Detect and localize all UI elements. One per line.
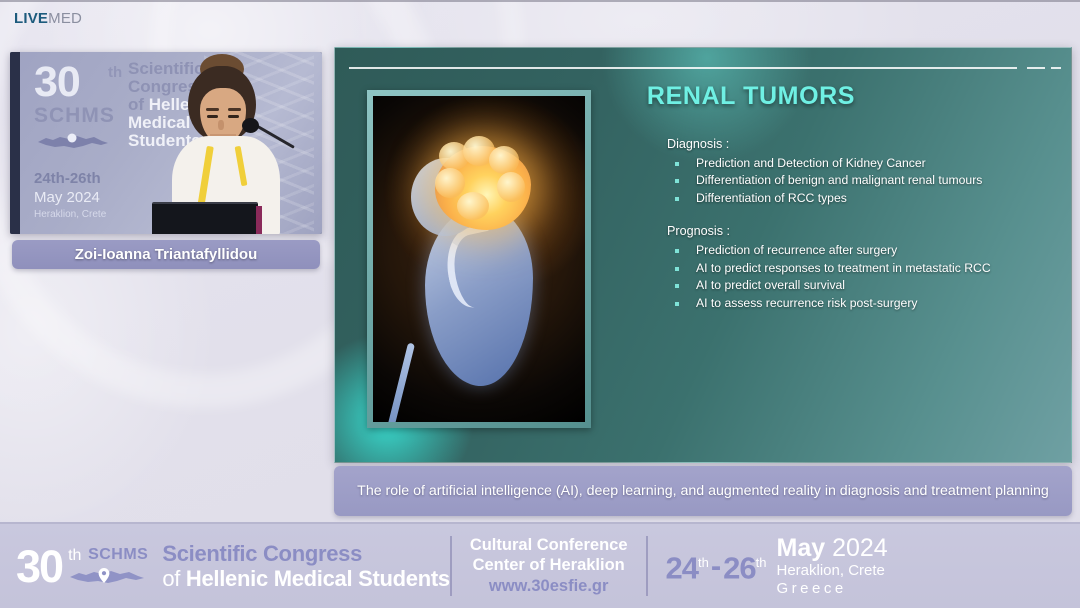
section-heading: Diagnosis : [667,136,1065,154]
banner-schms-label: SCHMS [88,546,148,564]
venue-line-2: Center of Heraklion [473,555,625,575]
list-item-label: Differentiation of benign and malignant … [696,172,982,190]
list-item: Prediction of recurrence after surgery [667,242,1065,260]
month-year: May 2024 [777,535,888,562]
speaker-eye-right [228,115,239,118]
speaker-name-label: Zoi-Ioanna Triantafyllidou [75,246,258,263]
bullet-icon [675,267,679,271]
speaker-name-badge: Zoi-Ioanna Triantafyllidou [12,240,320,269]
list-item: Differentiation of benign and malignant … [667,172,1065,190]
backdrop-edition-number: 30 [34,58,80,107]
list-item-label: Differentiation of RCC types [696,190,847,208]
presentation-slide[interactable]: RENAL TUMORS Diagnosis : Prediction and … [334,47,1072,463]
speaker-eyebrow-right [228,108,241,111]
venue-line-1: Cultural Conference [470,535,628,555]
banner-venue-block: Cultural Conference Center of Heraklion … [452,524,646,608]
list-item: Differentiation of RCC types [667,190,1065,208]
section-heading: Prognosis : [667,223,1065,241]
speaker-eye-left [207,115,218,118]
banner-date-details: May 2024 Heraklion, Crete Greece [777,535,888,598]
list-item: AI to assess recurrence risk post-surger… [667,295,1065,313]
backdrop-dates: 24th-26th [34,170,101,187]
date-start: 24th [666,548,709,583]
slide-top-dash-1 [1027,67,1045,69]
date-separator: - [711,548,721,584]
section-spacer [667,207,1065,223]
slide-section-diagnosis: Diagnosis : Prediction and Detection of … [667,136,1065,207]
slide-top-rule [349,67,1017,69]
bullet-icon [675,249,679,253]
bullet-icon [675,302,679,306]
speaker-nose [218,120,224,130]
speaker-eyebrow-left [206,108,219,111]
bullet-icon [675,197,679,201]
list-item-label: AI to assess recurrence risk post-surger… [696,295,917,313]
backdrop-month-year: May 2024 [34,189,100,206]
banner-congress-line-2: of Hellenic Medical Students [162,566,449,591]
date-end: 26th [723,548,766,583]
speaker-person [158,62,288,234]
backdrop-left-bar [10,52,20,234]
banner-congress-title: Scientific Congress of Hellenic Medical … [162,541,449,591]
kidney-figure-canvas [373,96,585,422]
backdrop-edition-ordinal: th [108,64,122,81]
top-edge-divider [0,0,1080,2]
backdrop-schms-label: SCHMS [34,104,115,128]
tumor-lobe [435,168,465,198]
bullet-icon [675,162,679,166]
kidney-tumor-figure [367,90,591,428]
speaker-video-thumbnail[interactable]: 30 th SCHMS Scientific Congress of Helle… [10,52,322,234]
banner-brand-block: 30 th SCHMS Scientific Congress of Helle… [0,524,450,608]
ureter [386,343,415,422]
livemed-logo-med: MED [48,10,82,27]
tumor-lobe [489,146,519,174]
congress-website-link[interactable]: www.30esfie.gr [489,575,609,597]
presentation-title-text: The role of artificial intelligence (AI)… [357,481,1049,502]
list-item-label: Prediction and Detection of Kidney Cance… [696,155,926,173]
slide-section-prognosis: Prognosis : Prediction of recurrence aft… [667,223,1065,312]
list-item-label: Prediction of recurrence after surgery [696,242,897,260]
banner-edition-ordinal: th [68,547,81,564]
slide-body-text: Diagnosis : Prediction and Detection of … [667,136,1065,312]
backdrop-city: Heraklion, Crete [34,209,106,220]
banner-dates-block: 24th - 26th May 2024 Heraklion, Crete Gr… [648,524,900,608]
list-item: Prediction and Detection of Kidney Cance… [667,155,1065,173]
crete-map-icon [68,564,146,586]
banner-congress-line-1: Scientific Congress [162,541,449,566]
livemed-logo: LIVEMED [14,10,82,27]
banner-city: Heraklion, Crete [777,562,888,580]
crete-map-icon [36,130,110,152]
bullet-icon [675,179,679,183]
list-item-label: AI to predict overall survival [696,277,845,295]
list-item: AI to predict overall survival [667,277,1065,295]
tumor-lobe [457,192,489,220]
list-item-label: AI to predict responses to treatment in … [696,260,991,278]
list-item: AI to predict responses to treatment in … [667,260,1065,278]
banner-country: Greece [777,580,888,598]
bullet-icon [675,284,679,288]
banner-edition-number: 30 [16,544,62,589]
congress-banner: 30 th SCHMS Scientific Congress of Helle… [0,522,1080,608]
tumor-lobe [497,172,525,202]
microphone-icon [242,118,259,133]
presentation-title-caption: The role of artificial intelligence (AI)… [334,466,1072,516]
bullet-list: Prediction of recurrence after surgery A… [667,242,1065,312]
livemed-logo-live: LIVE [14,10,48,27]
laptop [152,202,258,234]
slide-top-dash-2 [1051,67,1061,69]
bullet-list: Prediction and Detection of Kidney Cance… [667,155,1065,208]
